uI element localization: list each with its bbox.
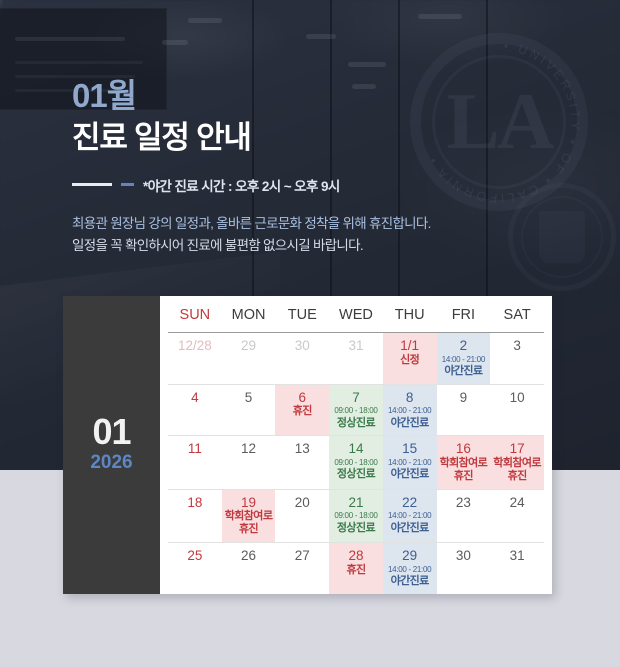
ceiling-light	[348, 62, 386, 67]
day-cell-27[interactable]: 27	[275, 543, 329, 594]
weekday-header-sun: SUN	[168, 296, 222, 333]
day-cell-30[interactable]: 30	[437, 543, 491, 594]
day-hours: 09:00 - 18:00	[332, 406, 380, 416]
day-status-label: 야간진료	[386, 417, 434, 430]
day-cell-22[interactable]: 2214:00 - 21:00야간진료	[383, 490, 437, 542]
day-number: 10	[493, 390, 541, 406]
hero-text-block: 01월 진료 일정 안내 *야간 진료 시간 : 오후 2시 ~ 오후 9시 최…	[72, 78, 431, 257]
day-number: 18	[171, 495, 219, 511]
ceiling-light	[306, 34, 336, 39]
calendar-cell: 5	[222, 384, 276, 436]
day-status-label: 학회참여로 휴진	[493, 457, 541, 483]
calendar-weeks: 12/282930311/1신정214:00 - 21:00야간진료3456휴진…	[168, 333, 544, 595]
calendar-cell: 30	[437, 543, 491, 594]
day-number: 31	[332, 338, 380, 354]
day-cell-17[interactable]: 17학회참여로 휴진	[490, 436, 544, 488]
day-cell-10[interactable]: 10	[490, 385, 544, 436]
calendar-cell: 27	[275, 543, 329, 594]
sign-text-line	[15, 61, 143, 64]
day-status-label: 정상진료	[332, 417, 380, 430]
calendar-cell: 24	[490, 489, 544, 542]
day-cell-2[interactable]: 214:00 - 21:00야간진료	[437, 333, 491, 384]
calendar-cell: 1514:00 - 21:00야간진료	[383, 436, 437, 489]
hero-description-line2: 일정을 꼭 확인하시어 진료에 불편함 없으시길 바랍니다.	[72, 235, 431, 257]
calendar-sidebar: 01 2026	[63, 296, 160, 594]
day-status-label: 정상진료	[332, 468, 380, 481]
day-cell-31[interactable]: 31	[329, 333, 383, 384]
day-cell-13[interactable]: 13	[275, 436, 329, 488]
calendar-cell: 29	[222, 333, 276, 385]
calendar-cell: 3	[490, 333, 544, 385]
calendar-card: 01 2026 SUNMONTUEWEDTHUFRISAT 12/2829303…	[63, 296, 552, 594]
day-status-label: 정상진료	[332, 522, 380, 535]
day-number: 3	[493, 338, 541, 354]
day-cell-18[interactable]: 18	[168, 490, 222, 542]
day-number: 30	[278, 338, 326, 354]
weekday-header-tue: TUE	[275, 296, 329, 333]
sign-text-line	[15, 37, 125, 41]
day-cell-26[interactable]: 26	[222, 543, 276, 594]
day-number: 7	[332, 390, 380, 406]
day-cell-1-1[interactable]: 1/1신정	[383, 333, 437, 384]
day-status-label: 신정	[386, 354, 434, 367]
calendar-head: SUNMONTUEWEDTHUFRISAT	[168, 296, 544, 333]
calendar-cell: 6휴진	[275, 384, 329, 436]
calendar-week-row: 1112131409:00 - 18:00정상진료1514:00 - 21:00…	[168, 436, 544, 489]
calendar-cell: 1409:00 - 18:00정상진료	[329, 436, 383, 489]
day-status-label: 야간진료	[386, 468, 434, 481]
day-number: 26	[225, 548, 273, 564]
day-hours: 14:00 - 21:00	[386, 565, 434, 575]
secondary-seal-ring	[521, 196, 603, 278]
calendar-table: SUNMONTUEWEDTHUFRISAT 12/282930311/1신정21…	[168, 296, 544, 594]
day-number: 11	[171, 441, 219, 457]
weekday-header-fri: FRI	[437, 296, 491, 333]
divider-dash-blue	[121, 183, 134, 186]
day-number: 28	[332, 548, 380, 564]
day-cell-12[interactable]: 12	[222, 436, 276, 488]
ceiling-light	[418, 14, 462, 19]
day-hours: 14:00 - 21:00	[386, 406, 434, 416]
hero-description-line1: 최용관 원장님 강의 일정과, 올바른 근로문화 정착을 위해 휴진합니다.	[72, 213, 431, 235]
day-status-label: 야간진료	[386, 575, 434, 588]
day-status-label: 휴진	[332, 564, 380, 577]
day-number: 2	[440, 338, 488, 354]
calendar-cell: 28휴진	[329, 543, 383, 594]
day-number: 29	[386, 548, 434, 564]
day-cell-25[interactable]: 25	[168, 543, 222, 594]
calendar-cell: 17학회참여로 휴진	[490, 436, 544, 489]
day-status-label: 학회참여로 휴진	[440, 457, 488, 483]
calendar-cell: 12/28	[168, 333, 222, 385]
day-cell-3[interactable]: 3	[490, 333, 544, 384]
day-cell-31[interactable]: 31	[490, 543, 544, 594]
ceiling-light	[162, 40, 188, 45]
calendar-cell: 11	[168, 436, 222, 489]
calendar-cell: 709:00 - 18:00정상진료	[329, 384, 383, 436]
day-number: 21	[332, 495, 380, 511]
day-number: 24	[493, 495, 541, 511]
day-cell-4[interactable]: 4	[168, 385, 222, 436]
calendar-cell: 31	[329, 333, 383, 385]
day-number: 12	[225, 441, 273, 457]
sidebar-month: 01	[92, 414, 130, 450]
weekday-header-mon: MON	[222, 296, 276, 333]
calendar-week-row: 12/282930311/1신정214:00 - 21:00야간진료3	[168, 333, 544, 385]
day-cell-5[interactable]: 5	[222, 385, 276, 436]
day-number: 9	[440, 390, 488, 406]
calendar-cell: 10	[490, 384, 544, 436]
day-number: 5	[225, 390, 273, 406]
night-hours-row: *야간 진료 시간 : 오후 2시 ~ 오후 9시	[72, 175, 431, 195]
day-hours: 09:00 - 18:00	[332, 458, 380, 468]
calendar-cell: 13	[275, 436, 329, 489]
day-number: 15	[386, 441, 434, 457]
calendar-week-row: 1819학회참여로 휴진202109:00 - 18:00정상진료2214:00…	[168, 489, 544, 542]
day-number: 29	[225, 338, 273, 354]
day-cell-19[interactable]: 19학회참여로 휴진	[222, 490, 276, 542]
day-cell-12-28[interactable]: 12/28	[168, 333, 222, 384]
day-number: 27	[278, 548, 326, 564]
day-number: 31	[493, 548, 541, 564]
calendar-cell: 2214:00 - 21:00야간진료	[383, 489, 437, 542]
day-cell-29[interactable]: 2914:00 - 21:00야간진료	[383, 543, 437, 594]
calendar-cell: 12	[222, 436, 276, 489]
hero-description: 최용관 원장님 강의 일정과, 올바른 근로문화 정착을 위해 휴진합니다. 일…	[72, 213, 431, 257]
calendar-cell: 25	[168, 543, 222, 594]
calendar-cell: 26	[222, 543, 276, 594]
day-number: 4	[171, 390, 219, 406]
page-title: 진료 일정 안내	[72, 118, 431, 158]
day-status-label: 야간진료	[440, 365, 488, 378]
day-number: 16	[440, 441, 488, 457]
calendar-cell: 1/1신정	[383, 333, 437, 385]
calendar-week-row: 25262728휴진2914:00 - 21:00야간진료3031	[168, 543, 544, 594]
day-cell-14[interactable]: 1409:00 - 18:00정상진료	[329, 436, 383, 488]
day-status-label: 휴진	[278, 405, 326, 418]
day-number: 19	[225, 495, 273, 511]
day-hours: 14:00 - 21:00	[386, 511, 434, 521]
calendar-cell: 214:00 - 21:00야간진료	[437, 333, 491, 385]
month-kicker: 01월	[72, 78, 431, 114]
calendar-cell: 30	[275, 333, 329, 385]
day-number: 23	[440, 495, 488, 511]
day-number: 13	[278, 441, 326, 457]
day-cell-6[interactable]: 6휴진	[275, 385, 329, 436]
day-number: 17	[493, 441, 541, 457]
calendar-cell: 814:00 - 21:00야간진료	[383, 384, 437, 436]
day-cell-30[interactable]: 30	[275, 333, 329, 384]
calendar-cell: 20	[275, 489, 329, 542]
weekday-header-wed: WED	[329, 296, 383, 333]
day-hours: 14:00 - 21:00	[386, 458, 434, 468]
weekday-header-sat: SAT	[490, 296, 544, 333]
day-cell-28[interactable]: 28휴진	[329, 543, 383, 594]
calendar-cell: 2109:00 - 18:00정상진료	[329, 489, 383, 542]
calendar-cell: 31	[490, 543, 544, 594]
day-status-label: 학회참여로 휴진	[225, 510, 273, 536]
day-cell-29[interactable]: 29	[222, 333, 276, 384]
day-number: 25	[171, 548, 219, 564]
weekday-header-row: SUNMONTUEWEDTHUFRISAT	[168, 296, 544, 333]
calendar-cell: 19학회참여로 휴진	[222, 489, 276, 542]
day-cell-20[interactable]: 20	[275, 490, 329, 542]
calendar-cell: 9	[437, 384, 491, 436]
day-cell-23[interactable]: 23	[437, 490, 491, 542]
calendar-cell: 18	[168, 489, 222, 542]
secondary-seal-watermark	[508, 183, 616, 291]
ceiling-light	[188, 18, 222, 23]
calendar-cell: 4	[168, 384, 222, 436]
day-number: 8	[386, 390, 434, 406]
day-number: 6	[278, 390, 326, 406]
sidebar-year: 2026	[90, 453, 132, 472]
day-cell-16[interactable]: 16학회참여로 휴진	[437, 436, 491, 488]
night-hours-note: *야간 진료 시간 : 오후 2시 ~ 오후 9시	[143, 175, 340, 195]
day-number: 12/28	[171, 338, 219, 354]
day-number: 20	[278, 495, 326, 511]
day-cell-15[interactable]: 1514:00 - 21:00야간진료	[383, 436, 437, 488]
day-number: 1/1	[386, 338, 434, 354]
day-number: 22	[386, 495, 434, 511]
divider-dash-white	[72, 183, 112, 186]
calendar-body: SUNMONTUEWEDTHUFRISAT 12/282930311/1신정21…	[160, 296, 552, 594]
day-hours: 14:00 - 21:00	[440, 355, 488, 365]
calendar-cell: 16학회참여로 휴진	[437, 436, 491, 489]
day-cell-8[interactable]: 814:00 - 21:00야간진료	[383, 385, 437, 436]
calendar-cell: 23	[437, 489, 491, 542]
day-number: 14	[332, 441, 380, 457]
day-status-label: 야간진료	[386, 522, 434, 535]
day-cell-7[interactable]: 709:00 - 18:00정상진료	[329, 385, 383, 436]
calendar-week-row: 456휴진709:00 - 18:00정상진료814:00 - 21:00야간진…	[168, 384, 544, 436]
weekday-header-thu: THU	[383, 296, 437, 333]
day-cell-21[interactable]: 2109:00 - 18:00정상진료	[329, 490, 383, 542]
day-cell-24[interactable]: 24	[490, 490, 544, 542]
day-hours: 09:00 - 18:00	[332, 511, 380, 521]
poster-root: • UNIVERSITY • OF • CALIFORNIA • LA 01월 …	[0, 0, 620, 667]
day-number: 30	[440, 548, 488, 564]
day-cell-11[interactable]: 11	[168, 436, 222, 488]
day-cell-9[interactable]: 9	[437, 385, 491, 436]
calendar-cell: 2914:00 - 21:00야간진료	[383, 543, 437, 594]
